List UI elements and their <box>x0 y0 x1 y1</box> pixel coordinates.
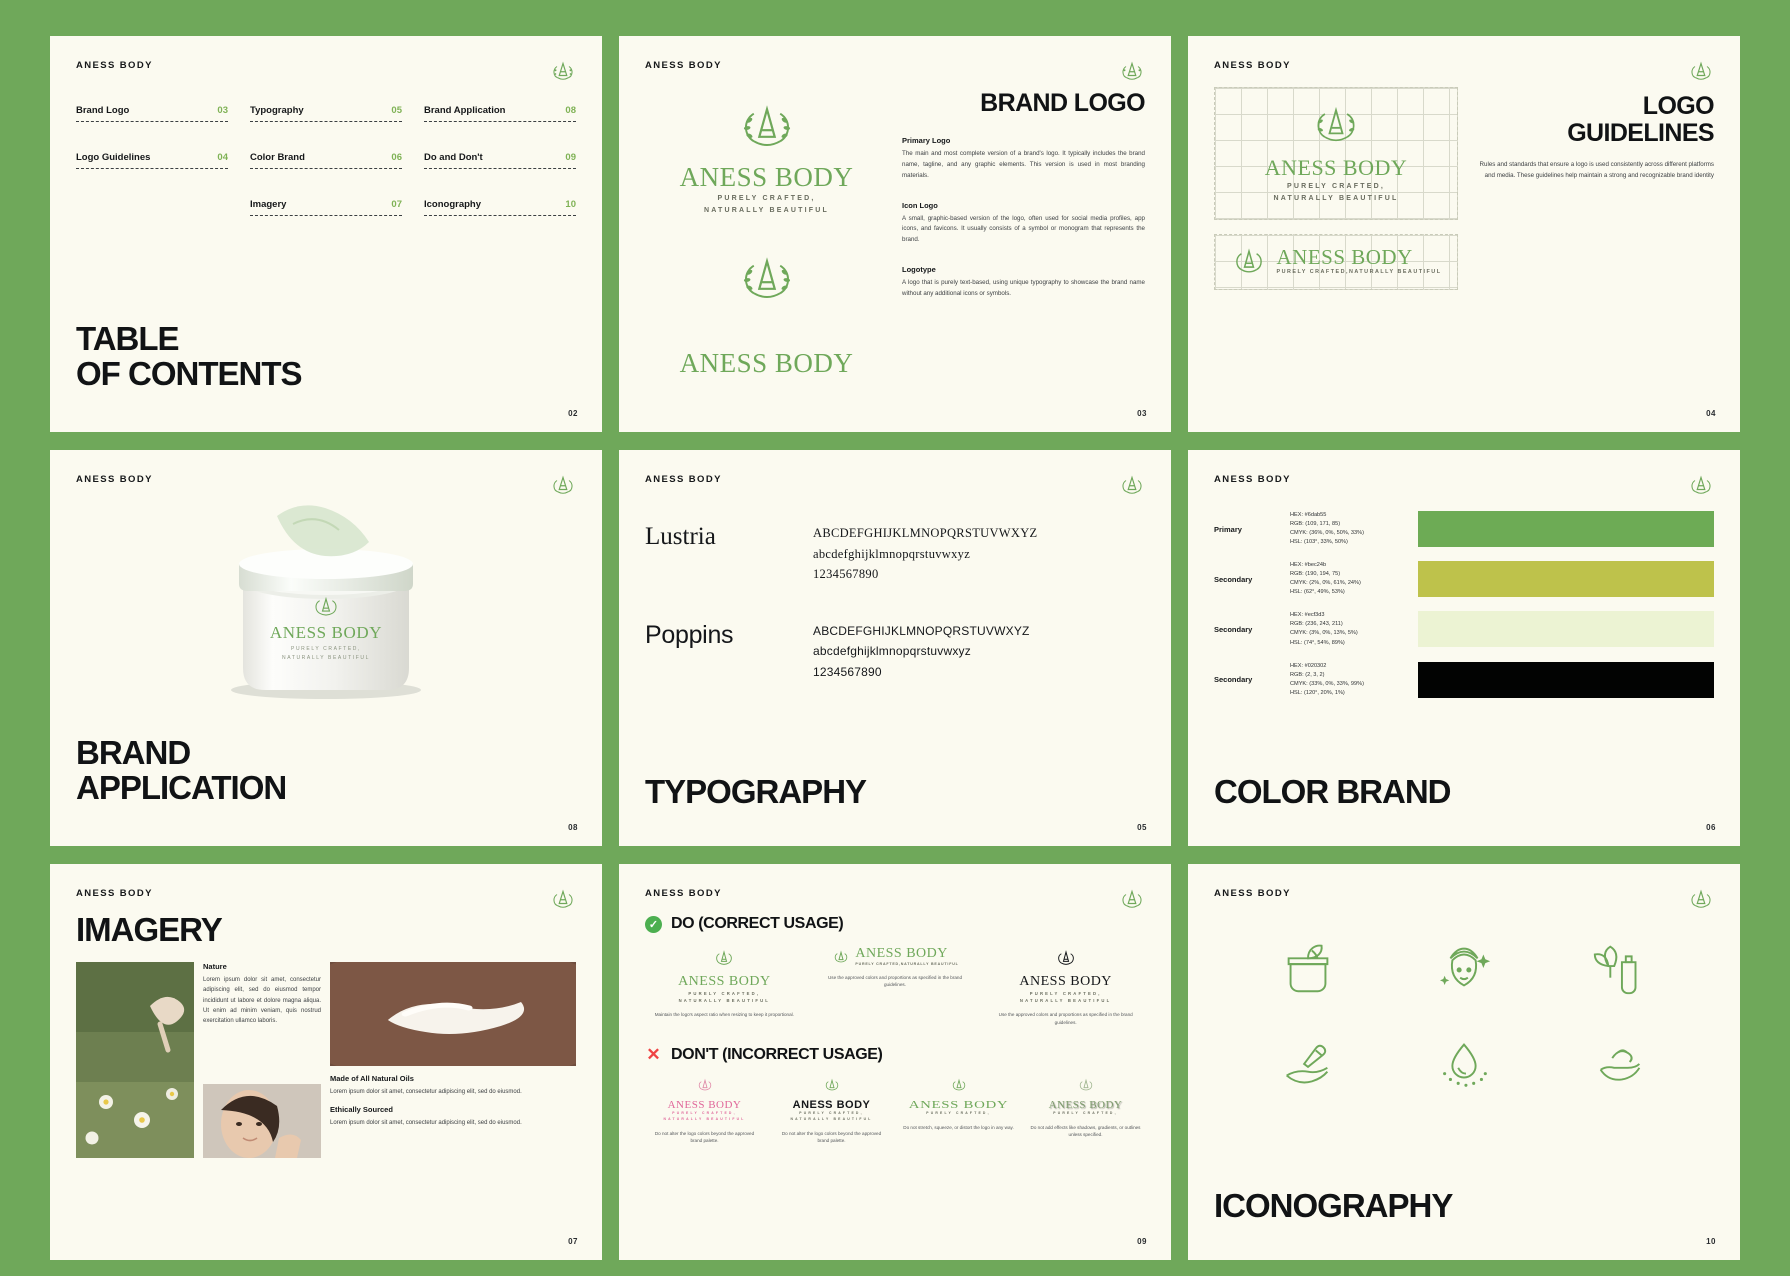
color-swatch-row[interactable]: Primary HEX: #6dab55 RGB: (109, 171, 85)… <box>1214 511 1714 547</box>
brandmark-header: ANESS BODY <box>76 474 576 485</box>
do-example: ANESS BODY PURELY CRAFTED,NATURALLY BEAU… <box>816 947 975 1026</box>
description-body: The main and most complete version of a … <box>902 149 1145 182</box>
page-title: TYPOGRAPHY <box>645 775 866 810</box>
icon-set <box>1214 929 1714 1101</box>
toc-page-number: 08 <box>565 105 576 116</box>
color-role-label: Secondary <box>1214 675 1280 684</box>
toc-label: Color Brand <box>250 152 305 163</box>
toc-entry[interactable]: Imagery 07 <box>250 199 402 246</box>
wreath-monogram-icon <box>949 1076 969 1094</box>
page-title-line2: OF CONTENTS <box>76 357 302 392</box>
logo-wordmark: ANESS BODY <box>1026 1099 1145 1111</box>
slide-table-of-contents[interactable]: ANESS BODY Brand Logo 03 Logo Guideline <box>50 36 602 432</box>
page-title: ICONOGRAPHY <box>1214 1189 1452 1224</box>
typeface-specimen: Poppins ABCDEFGHIJKLMNOPQRSTUVWXYZ abcde… <box>645 621 1145 682</box>
wreath-monogram-icon <box>822 1076 842 1094</box>
page-number: 04 <box>1706 409 1716 418</box>
color-hsl: HSL: (74°, 54%, 89%) <box>1290 639 1408 648</box>
page-number: 03 <box>1137 409 1147 418</box>
toc-column-1: Brand Logo 03 Logo Guidelines 04 <box>76 105 228 246</box>
color-hex: HEX: #bec24b <box>1290 561 1408 570</box>
toc-divider <box>424 215 576 216</box>
slide-color-brand[interactable]: ANESS BODY Primary HEX: #6dab55 RGB: (10… <box>1188 450 1740 846</box>
toc-entry[interactable]: Do and Don't 09 <box>424 152 576 199</box>
color-spec-block: HEX: #ecf3d3 RGB: (236, 243, 211) CMYK: … <box>1290 611 1408 647</box>
primary-logo-lockup: ANESS BODY PURELY CRAFTED, NATURALLY BEA… <box>645 99 888 217</box>
color-chip <box>1418 611 1714 647</box>
logo-wordmark: ANESS BODY <box>1223 155 1449 181</box>
color-hex: HEX: #6dab55 <box>1290 511 1408 520</box>
toc-divider <box>250 168 402 169</box>
wreath-monogram-icon <box>1308 102 1364 150</box>
logo-tagline-inline: PURELY CRAFTED,NATURALLY BEAUTIFUL <box>1276 268 1441 277</box>
page-title-line2: APPLICATION <box>76 771 286 806</box>
toc-page-number: 06 <box>391 152 402 163</box>
page-number: 09 <box>1137 1237 1147 1246</box>
toc-label: Logo Guidelines <box>76 152 150 163</box>
description-body: A logo that is purely text-based, using … <box>902 278 1145 300</box>
caption-heading: Nature <box>203 962 321 971</box>
photo-model-portrait <box>203 1084 321 1158</box>
hand-holding-cream-icon[interactable] <box>1550 1023 1690 1101</box>
caption-ethically-sourced: Ethically Sourced Lorem ipsum dolor sit … <box>330 1105 576 1128</box>
typeface-numerals: 1234567890 <box>813 564 1037 585</box>
toc-column-3: Brand Application 08 Do and Don't 09 Ico… <box>424 105 576 246</box>
wreath-monogram-icon <box>831 948 851 966</box>
typeface-uppercase: ABCDEFGHIJKLMNOPQRSTUVWXYZ <box>813 621 1030 641</box>
toc-page-number: 07 <box>391 199 402 210</box>
leaf-bottle-icon[interactable] <box>1550 929 1690 1007</box>
color-swatch-row[interactable]: Secondary HEX: #bec24b RGB: (190, 194, 7… <box>1214 561 1714 597</box>
dont-section-header: ✕ DON'T (INCORRECT USAGE) <box>645 1046 1145 1064</box>
toc-entry[interactable]: Logo Guidelines 04 <box>76 152 228 199</box>
hand-cream-swatch-icon[interactable] <box>1238 1023 1378 1101</box>
logo-clearspace-grid: ANESS BODY PURELY CRAFTED, NATURALLY BEA… <box>1214 87 1458 220</box>
svg-text:ANESS BODY: ANESS BODY <box>270 623 382 642</box>
color-swatch-row[interactable]: Secondary HEX: #ecf3d3 RGB: (236, 243, 2… <box>1214 611 1714 647</box>
page-title: COLOR BRAND <box>1214 775 1450 810</box>
page-number: 10 <box>1706 1237 1716 1246</box>
description-heading: Logotype <box>902 265 1145 274</box>
typeface-numerals: 1234567890 <box>813 662 1030 682</box>
color-cmyk: CMYK: (3%, 0%, 13%, 5%) <box>1290 629 1408 638</box>
logo-wordmark: ANESS BODY <box>1276 247 1441 268</box>
toc-page-number: 10 <box>565 199 576 210</box>
toc-divider <box>250 121 402 122</box>
caption-heading: Made of All Natural Oils <box>330 1074 576 1083</box>
crest-logo-icon <box>548 470 578 500</box>
toc-divider <box>424 168 576 169</box>
description-body: A small, graphic-based version of the lo… <box>902 214 1145 247</box>
toc-entry[interactable]: Brand Logo 03 <box>76 105 228 152</box>
do-note: Maintain the logo's aspect ratio when re… <box>645 1011 804 1018</box>
caption-body: Lorem ipsum dolor sit amet, consectetur … <box>203 975 321 1027</box>
color-spec-block: HEX: #6dab55 RGB: (109, 171, 85) CMYK: (… <box>1290 511 1408 547</box>
droplet-rays-icon[interactable] <box>1394 1023 1534 1101</box>
color-hsl: HSL: (120°, 20%, 1%) <box>1290 689 1408 698</box>
svg-text:PURELY CRAFTED,: PURELY CRAFTED, <box>291 646 361 652</box>
logo-wordmark: ANESS BODY <box>878 1099 1039 1111</box>
typeface-name: Lustria <box>645 523 795 551</box>
product-mockup: ANESS BODY PURELY CRAFTED, NATURALLY BEA… <box>76 491 576 706</box>
wreath-monogram-icon <box>734 99 800 157</box>
dont-examples: ANESS BODY PURELY CRAFTED, NATURALLY BEA… <box>645 1076 1145 1144</box>
dont-example: ANESS BODY PURELY CRAFTED, Do not add ef… <box>1026 1076 1145 1144</box>
logo-tagline-line1: PURELY CRAFTED, <box>1026 1111 1145 1117</box>
do-example: ANESS BODY PURELY CRAFTED, NATURALLY BEA… <box>645 947 804 1026</box>
color-cmyk: CMYK: (36%, 0%, 50%, 33%) <box>1290 529 1408 538</box>
do-title: DO (CORRECT USAGE) <box>671 915 843 933</box>
slide-do-and-dont[interactable]: ANESS BODY ✓ DO (CORRECT USAGE) ANESS BO… <box>619 864 1171 1260</box>
typeface-specimen: Lustria ABCDEFGHIJKLMNOPQRSTUVWXYZ abcde… <box>645 523 1145 585</box>
crest-logo-icon <box>548 884 578 914</box>
do-note: Use the approved colors and proportions … <box>986 1011 1145 1026</box>
crest-logo-icon <box>1117 56 1147 86</box>
color-hsl: HSL: (62°, 49%, 53%) <box>1290 588 1408 597</box>
toc-page-number: 03 <box>217 105 228 116</box>
color-hex: HEX: #020302 <box>1290 662 1408 671</box>
page-title-line1: TABLE <box>76 322 302 357</box>
logo-wordmark: ANESS BODY <box>986 974 1145 990</box>
logo-tagline-line1: PURELY CRAFTED, <box>645 990 804 997</box>
crest-logo-icon <box>1117 884 1147 914</box>
glowing-face-icon[interactable] <box>1394 929 1534 1007</box>
slide-iconography[interactable]: ANESS BODY <box>1188 864 1740 1260</box>
do-example: ANESS BODY PURELY CRAFTED, NATURALLY BEA… <box>986 947 1145 1026</box>
primary-logo-lockup: ANESS BODY PURELY CRAFTED, NATURALLY BEA… <box>1223 102 1449 205</box>
check-circle-icon: ✓ <box>645 916 662 933</box>
wreath-monogram-icon <box>1053 947 1079 969</box>
page-title: BRAND LOGO <box>902 89 1145 118</box>
color-swatch-list: Primary HEX: #6dab55 RGB: (109, 171, 85)… <box>1214 511 1714 698</box>
page-title: TABLE OF CONTENTS <box>76 322 302 392</box>
typeface-uppercase: ABCDEFGHIJKLMNOPQRSTUVWXYZ <box>813 523 1037 544</box>
slide-typography[interactable]: ANESS BODY Lustria ABCDEFGHIJKLMNOPQRSTU… <box>619 450 1171 846</box>
dont-example: ANESS BODY PURELY CRAFTED, Do not stretc… <box>899 1076 1018 1144</box>
dont-example: ANESS BODY PURELY CRAFTED, NATURALLY BEA… <box>772 1076 891 1144</box>
color-rgb: RGB: (236, 243, 211) <box>1290 620 1408 629</box>
crest-logo-icon <box>1686 884 1716 914</box>
logo-tagline-line2: NATURALLY BEAUTIFUL <box>1223 193 1449 205</box>
toc-page-number: 04 <box>217 152 228 163</box>
logo-tagline-line1: PURELY CRAFTED, <box>645 193 888 205</box>
dont-example: ANESS BODY PURELY CRAFTED, NATURALLY BEA… <box>645 1076 764 1144</box>
brandmark-header: ANESS BODY <box>1214 60 1714 71</box>
color-hex: HEX: #ecf3d3 <box>1290 611 1408 620</box>
logo-tagline-line1: PURELY CRAFTED, <box>1223 181 1449 193</box>
toc-entry[interactable]: Brand Application 08 <box>424 105 576 152</box>
logo-wordmark: ANESS BODY <box>645 974 804 990</box>
page-number: 07 <box>568 1237 578 1246</box>
wreath-monogram-icon <box>711 947 737 969</box>
color-rgb: RGB: (109, 171, 85) <box>1290 520 1408 529</box>
wreath-monogram-icon <box>1230 245 1268 279</box>
logotype-lockup: ANESS BODY <box>645 348 888 379</box>
color-role-label: Secondary <box>1214 575 1280 584</box>
description-block: Primary Logo The main and most complete … <box>902 136 1145 182</box>
page-title: BRAND APPLICATION <box>76 736 286 806</box>
logo-horizontal-grid: ANESS BODY PURELY CRAFTED,NATURALLY BEAU… <box>1214 234 1458 290</box>
caption-heading: Ethically Sourced <box>330 1105 576 1114</box>
page-title-line2: GUIDELINES <box>1470 120 1714 147</box>
color-role-label: Primary <box>1214 525 1280 534</box>
page-number: 08 <box>568 823 578 832</box>
page-number: 06 <box>1706 823 1716 832</box>
logo-wordmark: ANESS BODY <box>645 1099 764 1111</box>
dont-note: Do not add effects like shadows, gradien… <box>1026 1124 1145 1139</box>
page-number: 02 <box>568 409 578 418</box>
toc-divider <box>76 168 228 169</box>
color-swatch-row[interactable]: Secondary HEX: #020302 RGB: (2, 3, 2) CM… <box>1214 662 1714 698</box>
slide-deck: ANESS BODY Brand Logo 03 Logo Guideline <box>0 0 1790 1276</box>
logo-tagline-line2: NATURALLY BEAUTIFUL <box>986 997 1145 1004</box>
dont-note: Do not alter the logo colors beyond the … <box>772 1130 891 1145</box>
toc-label: Imagery <box>250 199 286 210</box>
color-hsl: HSL: (103°, 33%, 50%) <box>1290 538 1408 547</box>
brandmark-header: ANESS BODY <box>76 888 576 899</box>
dont-note: Do not stretch, squeeze, or distort the … <box>899 1124 1018 1131</box>
crest-logo-icon <box>548 56 578 86</box>
color-spec-block: HEX: #020302 RGB: (2, 3, 2) CMYK: (33%, … <box>1290 662 1408 698</box>
leaf-jar-icon[interactable] <box>1238 929 1378 1007</box>
logo-wordmark: ANESS BODY <box>772 1099 891 1111</box>
logo-wordmark: ANESS BODY <box>855 947 958 961</box>
logo-tagline-line2: NATURALLY BEAUTIFUL <box>645 1117 764 1123</box>
logo-tagline-line1: PURELY CRAFTED, <box>899 1111 1018 1117</box>
toc-divider <box>250 215 402 216</box>
guidelines-body: Rules and standards that ensure a logo i… <box>1470 159 1714 182</box>
color-rgb: RGB: (2, 3, 2) <box>1290 671 1408 680</box>
description-heading: Primary Logo <box>902 136 1145 145</box>
toc-label: Do and Don't <box>424 152 483 163</box>
do-note: Use the approved colors and proportions … <box>816 974 975 989</box>
toc-label: Iconography <box>424 199 481 210</box>
toc-entry[interactable]: Typography 05 <box>250 105 402 152</box>
color-role-label: Secondary <box>1214 625 1280 634</box>
toc-label: Brand Logo <box>76 105 129 116</box>
crest-logo-icon <box>1686 470 1716 500</box>
slide-logo-guidelines[interactable]: ANESS BODY <box>1188 36 1740 432</box>
do-examples: ANESS BODY PURELY CRAFTED, NATURALLY BEA… <box>645 947 1145 1026</box>
toc-entry[interactable]: Iconography 10 <box>424 199 576 246</box>
color-cmyk: CMYK: (33%, 0%, 33%, 99%) <box>1290 680 1408 689</box>
slide-brand-application[interactable]: ANESS BODY <box>50 450 602 846</box>
photo-cream-swatch-skin <box>330 962 576 1066</box>
page-number: 05 <box>1137 823 1147 832</box>
dont-note: Do not alter the logo colors beyond the … <box>645 1130 764 1145</box>
typeface-lowercase: abcdefghijklmnopqrstuvwxyz <box>813 544 1037 565</box>
color-chip <box>1418 511 1714 547</box>
brandmark-header: ANESS BODY <box>1214 474 1714 485</box>
logo-tagline-inline: PURELY CRAFTED,NATURALLY BEAUTIFUL <box>855 961 958 967</box>
description-block: Icon Logo A small, graphic-based version… <box>902 201 1145 247</box>
toc-divider <box>424 121 576 122</box>
brandmark-header: ANESS BODY <box>1214 888 1714 899</box>
toc-grid: Brand Logo 03 Logo Guidelines 04 Typogra… <box>76 105 576 246</box>
color-cmyk: CMYK: (2%, 0%, 61%, 24%) <box>1290 579 1408 588</box>
icon-logo-lockup <box>645 251 888 314</box>
toc-column-2: Typography 05 Color Brand 06 Imagery 07 <box>250 105 402 246</box>
cross-icon: ✕ <box>645 1046 662 1063</box>
caption-natural-oils: Made of All Natural Oils Lorem ipsum dol… <box>330 1074 576 1097</box>
slide-brand-logo[interactable]: ANESS BODY <box>619 36 1171 432</box>
brandmark-header: ANESS BODY <box>645 60 1145 71</box>
toc-entry[interactable]: Color Brand 06 <box>250 152 402 199</box>
description-heading: Icon Logo <box>902 201 1145 210</box>
photo-wildflowers <box>76 962 194 1158</box>
page-title-line1: LOGO <box>1470 93 1714 120</box>
brandmark-header: ANESS BODY <box>76 60 576 71</box>
crest-logo-icon <box>1686 56 1716 86</box>
typeface-lowercase: abcdefghijklmnopqrstuvwxyz <box>813 641 1030 661</box>
description-block: Logotype A logo that is purely text-base… <box>902 265 1145 300</box>
logo-tagline-line2: NATURALLY BEAUTIFUL <box>645 997 804 1004</box>
toc-page-number: 05 <box>391 105 402 116</box>
crest-logo-icon <box>1117 470 1147 500</box>
toc-divider <box>76 121 228 122</box>
svg-text:NATURALLY BEAUTIFUL: NATURALLY BEAUTIFUL <box>282 655 370 661</box>
toc-page-number: 09 <box>565 152 576 163</box>
caption-body: Lorem ipsum dolor sit amet, consectetur … <box>330 1118 576 1128</box>
page-title: IMAGERY <box>76 913 576 948</box>
wreath-monogram-icon <box>1076 1076 1096 1094</box>
logo-tagline-line2: NATURALLY BEAUTIFUL <box>772 1117 891 1123</box>
color-chip <box>1418 561 1714 597</box>
logo-tagline-line2: NATURALLY BEAUTIFUL <box>645 205 888 217</box>
logo-wordmark: ANESS BODY <box>645 162 888 193</box>
caption-nature: Nature Lorem ipsum dolor sit amet, conse… <box>203 962 321 1027</box>
slide-imagery[interactable]: ANESS BODY IMAGERY <box>50 864 602 1260</box>
do-section-header: ✓ DO (CORRECT USAGE) <box>645 915 1145 933</box>
brandmark-header: ANESS BODY <box>645 474 1145 485</box>
logo-tagline-line1: PURELY CRAFTED, <box>986 990 1145 997</box>
logotype-wordmark: ANESS BODY <box>645 348 888 379</box>
wreath-monogram-icon <box>695 1076 715 1094</box>
dont-title: DON'T (INCORRECT USAGE) <box>671 1046 883 1064</box>
brandmark-header: ANESS BODY <box>645 888 1145 899</box>
toc-label: Brand Application <box>424 105 505 116</box>
cream-jar-image: ANESS BODY PURELY CRAFTED, NATURALLY BEA… <box>181 494 471 704</box>
color-spec-block: HEX: #bec24b RGB: (190, 194, 75) CMYK: (… <box>1290 561 1408 597</box>
page-title-line1: BRAND <box>76 736 286 771</box>
caption-body: Lorem ipsum dolor sit amet, consectetur … <box>330 1087 576 1097</box>
toc-label: Typography <box>250 105 304 116</box>
wreath-monogram-icon <box>734 251 800 309</box>
color-rgb: RGB: (190, 194, 75) <box>1290 570 1408 579</box>
color-chip <box>1418 662 1714 698</box>
typeface-name: Poppins <box>645 621 795 650</box>
